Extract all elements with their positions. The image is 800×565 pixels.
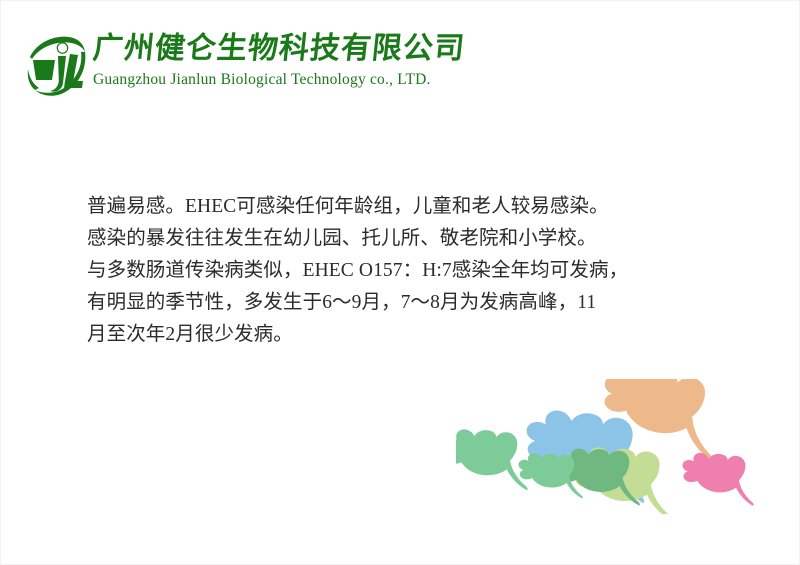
body-line-2: 感染的暴发往往发生在幼儿园、托儿所、敬老院和小学校。 bbox=[87, 223, 647, 255]
company-brand-header: 广州健仑生物科技有限公司 Guangzhou Jianlun Biologica… bbox=[27, 31, 465, 99]
company-name-chinese: 广州健仑生物科技有限公司 bbox=[91, 31, 467, 67]
slide-body-text: 普遍易感。EHEC可感染任何年龄组，儿童和老人较易感染。 感染的暴发往往发生在幼… bbox=[87, 191, 647, 351]
body-line-4: 有明显的季节性，多发生于6～9月，7～8月为发病高峰，11 bbox=[87, 287, 647, 319]
ginkgo-leaf-left-green bbox=[456, 427, 532, 491]
body-line-3: 与多数肠道传染病类似，EHEC O157：H:7感染全年均可发病， bbox=[87, 255, 647, 287]
ginkgo-leaf-decoration bbox=[456, 379, 796, 514]
body-line-5: 月至次年2月很少发病。 bbox=[87, 319, 647, 351]
slide-canvas: 广州健仑生物科技有限公司 Guangzhou Jianlun Biologica… bbox=[0, 0, 800, 565]
company-name-english: Guangzhou Jianlun Biological Technology … bbox=[93, 70, 465, 90]
body-line-1: 普遍易感。EHEC可感染任何年龄组，儿童和老人较易感染。 bbox=[87, 191, 647, 223]
company-logo-icon bbox=[27, 33, 89, 99]
ginkgo-leaf-pink bbox=[679, 450, 759, 506]
company-name-block: 广州健仑生物科技有限公司 Guangzhou Jianlun Biologica… bbox=[93, 31, 465, 90]
